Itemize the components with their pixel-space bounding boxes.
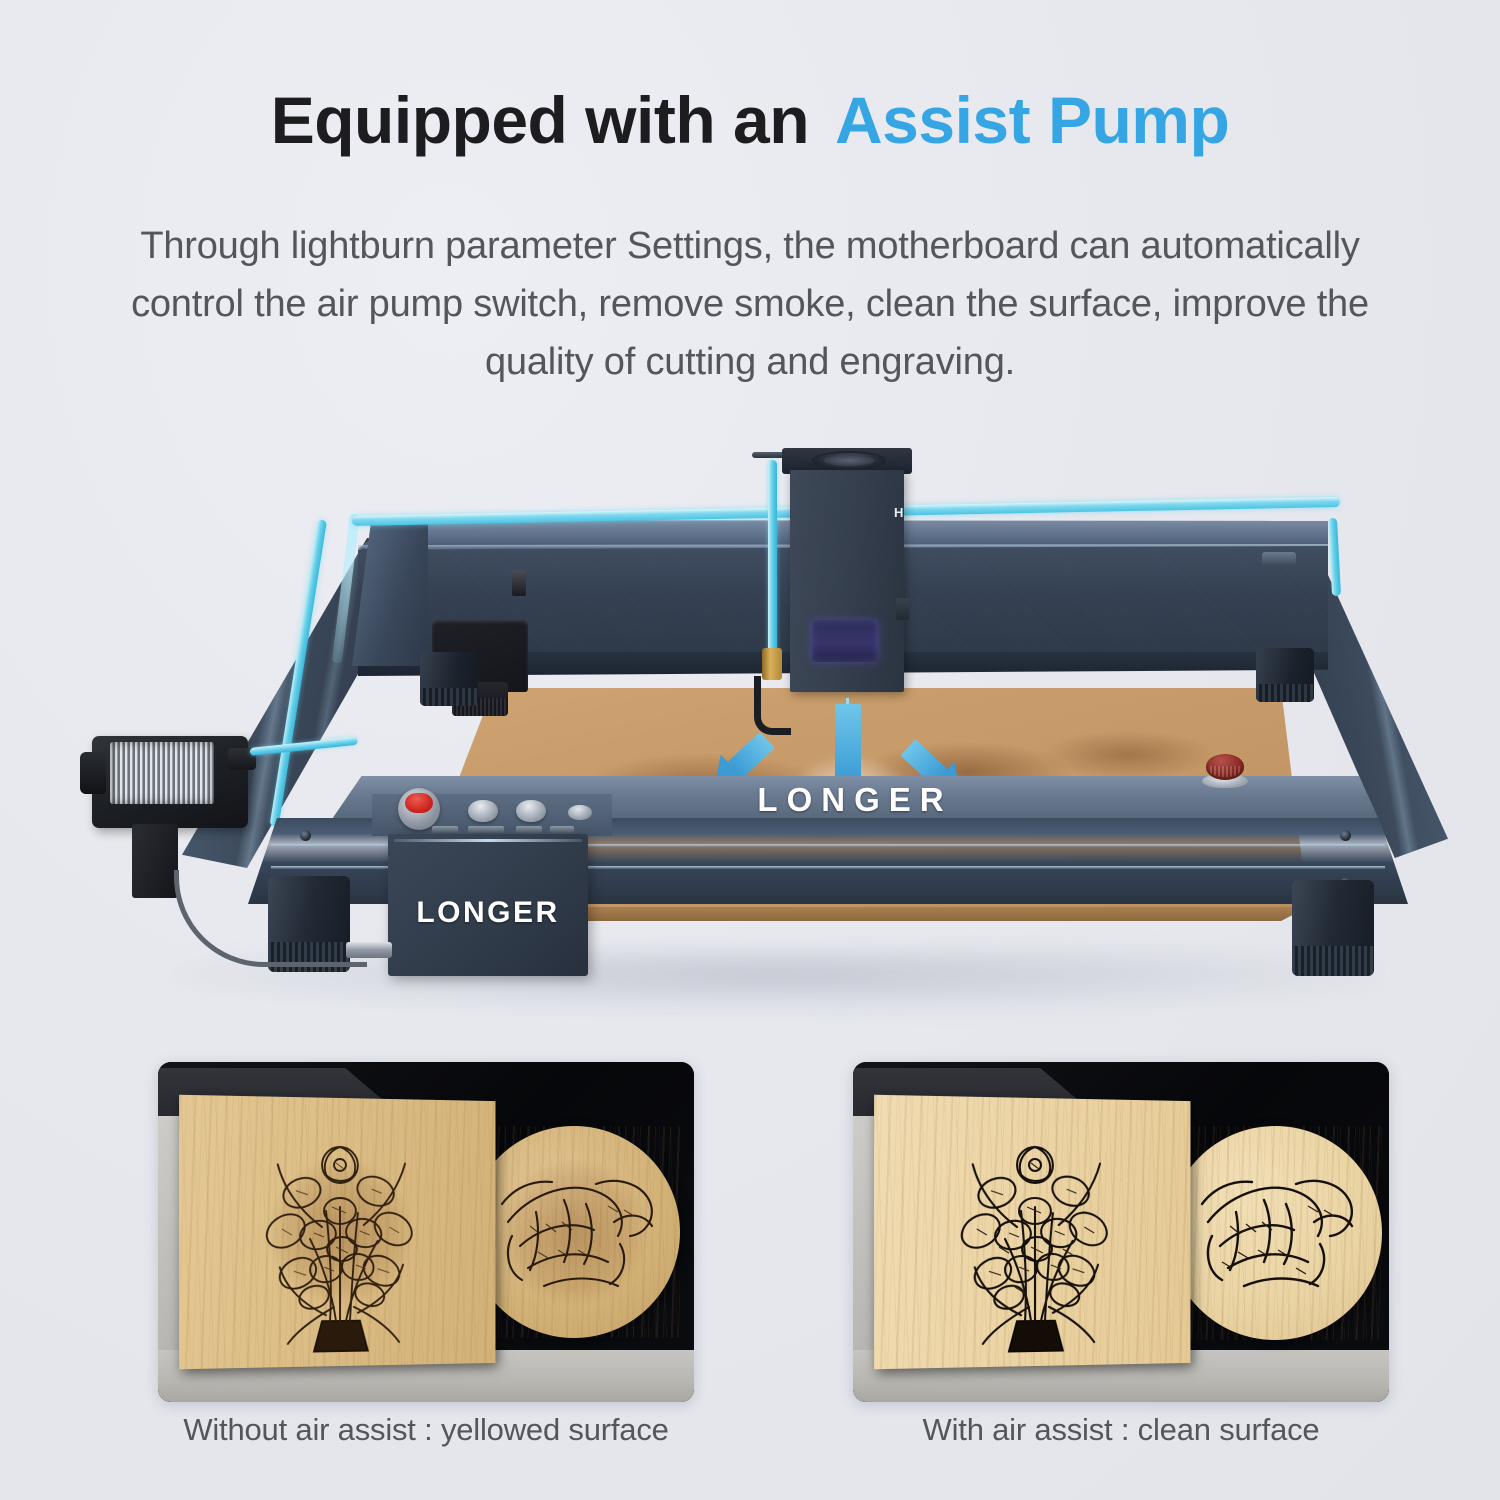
air-hose-head-drop: [768, 460, 777, 656]
control-knob-selector[interactable]: [468, 800, 498, 822]
limit-switch: [512, 570, 526, 596]
pump-cooling-fins: [110, 742, 214, 804]
gantry-marking-label: H: [894, 506, 909, 519]
control-knob-aux[interactable]: [568, 805, 592, 820]
laser-head-side-cap: [896, 598, 909, 620]
laser-protective-window: [812, 620, 878, 662]
engraved-bouquet-artwork: [225, 1105, 454, 1359]
leg-front-right: [1292, 880, 1374, 976]
laser-head-module: H: [786, 448, 908, 716]
leg-rear-right: [1256, 648, 1314, 702]
control-knob-power[interactable]: [516, 800, 546, 822]
headline-accent-text: Assist Pump: [835, 83, 1229, 157]
comparison-photo-without-air-assist: [158, 1062, 694, 1402]
page-headline: Equipped with anAssist Pump: [0, 86, 1500, 155]
pump-mounting-bracket: [132, 824, 178, 898]
leg-rear-left: [420, 652, 478, 706]
laser-engraver-illustration: H LONGER LONGER: [0, 420, 1500, 1040]
engraved-round-disc: [468, 1126, 680, 1338]
engraved-closeup-artwork: [1168, 1126, 1382, 1340]
pump-end-cap: [80, 752, 106, 794]
engraved-round-disc: [1168, 1126, 1382, 1340]
belt-tensioner: [1262, 552, 1296, 566]
engraved-wood-board: [179, 1095, 495, 1370]
headline-primary-text: Equipped with an: [271, 83, 809, 157]
controller-box: LONGER: [388, 834, 588, 976]
cooling-fan-icon: [812, 451, 886, 470]
pump-cable-connector: [346, 942, 392, 958]
engraved-wood-board: [874, 1095, 1190, 1370]
caption-without-air-assist: Without air assist : yellowed surface: [158, 1412, 694, 1448]
engraved-closeup-artwork: [468, 1126, 680, 1338]
caption-with-air-assist: With air assist : clean surface: [853, 1412, 1389, 1448]
engraved-bouquet-artwork: [920, 1105, 1149, 1359]
page-description: Through lightburn parameter Settings, th…: [120, 218, 1380, 391]
brand-label-controller: LONGER: [388, 896, 588, 930]
comparison-photo-with-air-assist: [853, 1062, 1389, 1402]
emergency-stop-button[interactable]: [398, 788, 440, 830]
air-assist-pump: [78, 720, 268, 920]
focus-adjust-knob[interactable]: [1202, 754, 1248, 788]
